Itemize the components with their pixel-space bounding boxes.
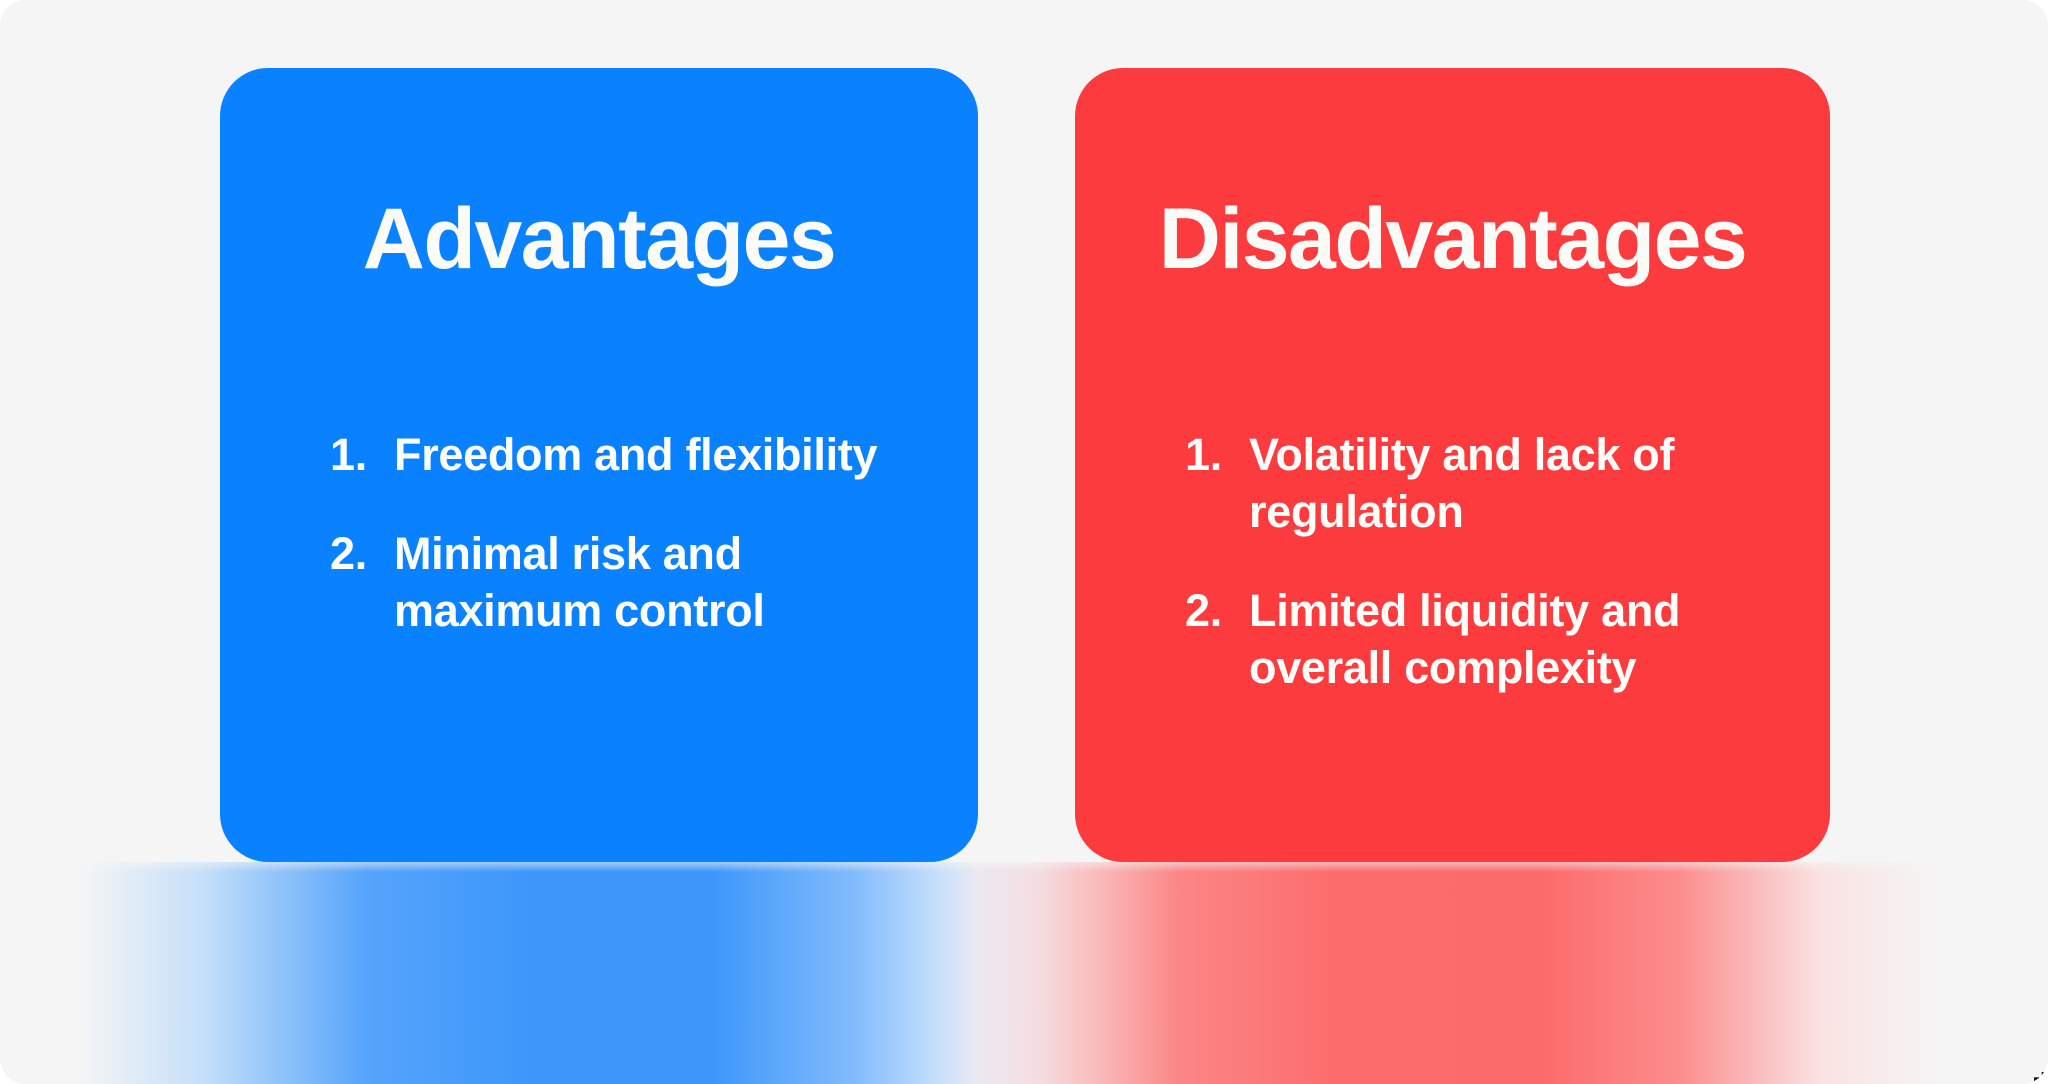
advantages-card: Advantages 1. Freedom and flexibility 2.… [220, 68, 978, 862]
list-item: 2. Minimal risk and maximum control [330, 525, 890, 639]
list-item: 1. Volatility and lack of regulation [1185, 426, 1755, 540]
disadvantages-card-title: Disadvantages [1075, 196, 1830, 282]
list-item-number: 1. [1185, 426, 1249, 483]
disadvantages-card: Disadvantages 1. Volatility and lack of … [1075, 68, 1830, 862]
disadvantages-list: 1. Volatility and lack of regulation 2. … [1185, 426, 1755, 739]
advantages-card-title: Advantages [220, 196, 978, 282]
list-item-text: Volatility and lack of regulation [1249, 426, 1755, 540]
list-item: 2. Limited liquidity and overall complex… [1185, 582, 1755, 696]
advantages-list: 1. Freedom and flexibility 2. Minimal ri… [330, 426, 890, 681]
list-item-number: 2. [330, 525, 394, 582]
list-item-text: Limited liquidity and overall complexity [1249, 582, 1755, 696]
blur-seam-highlight [0, 862, 2048, 872]
list-item-text: Minimal risk and maximum control [394, 525, 890, 639]
blurred-reflection-disadvantages [940, 862, 1940, 1084]
comparison-slide: Advantages 1. Freedom and flexibility 2.… [0, 0, 2048, 1084]
list-item-text: Freedom and flexibility [394, 426, 890, 483]
blurred-reflection-band [0, 862, 2048, 1084]
list-item-number: 2. [1185, 582, 1249, 639]
list-item: 1. Freedom and flexibility [330, 426, 890, 483]
list-item-number: 1. [330, 426, 394, 483]
